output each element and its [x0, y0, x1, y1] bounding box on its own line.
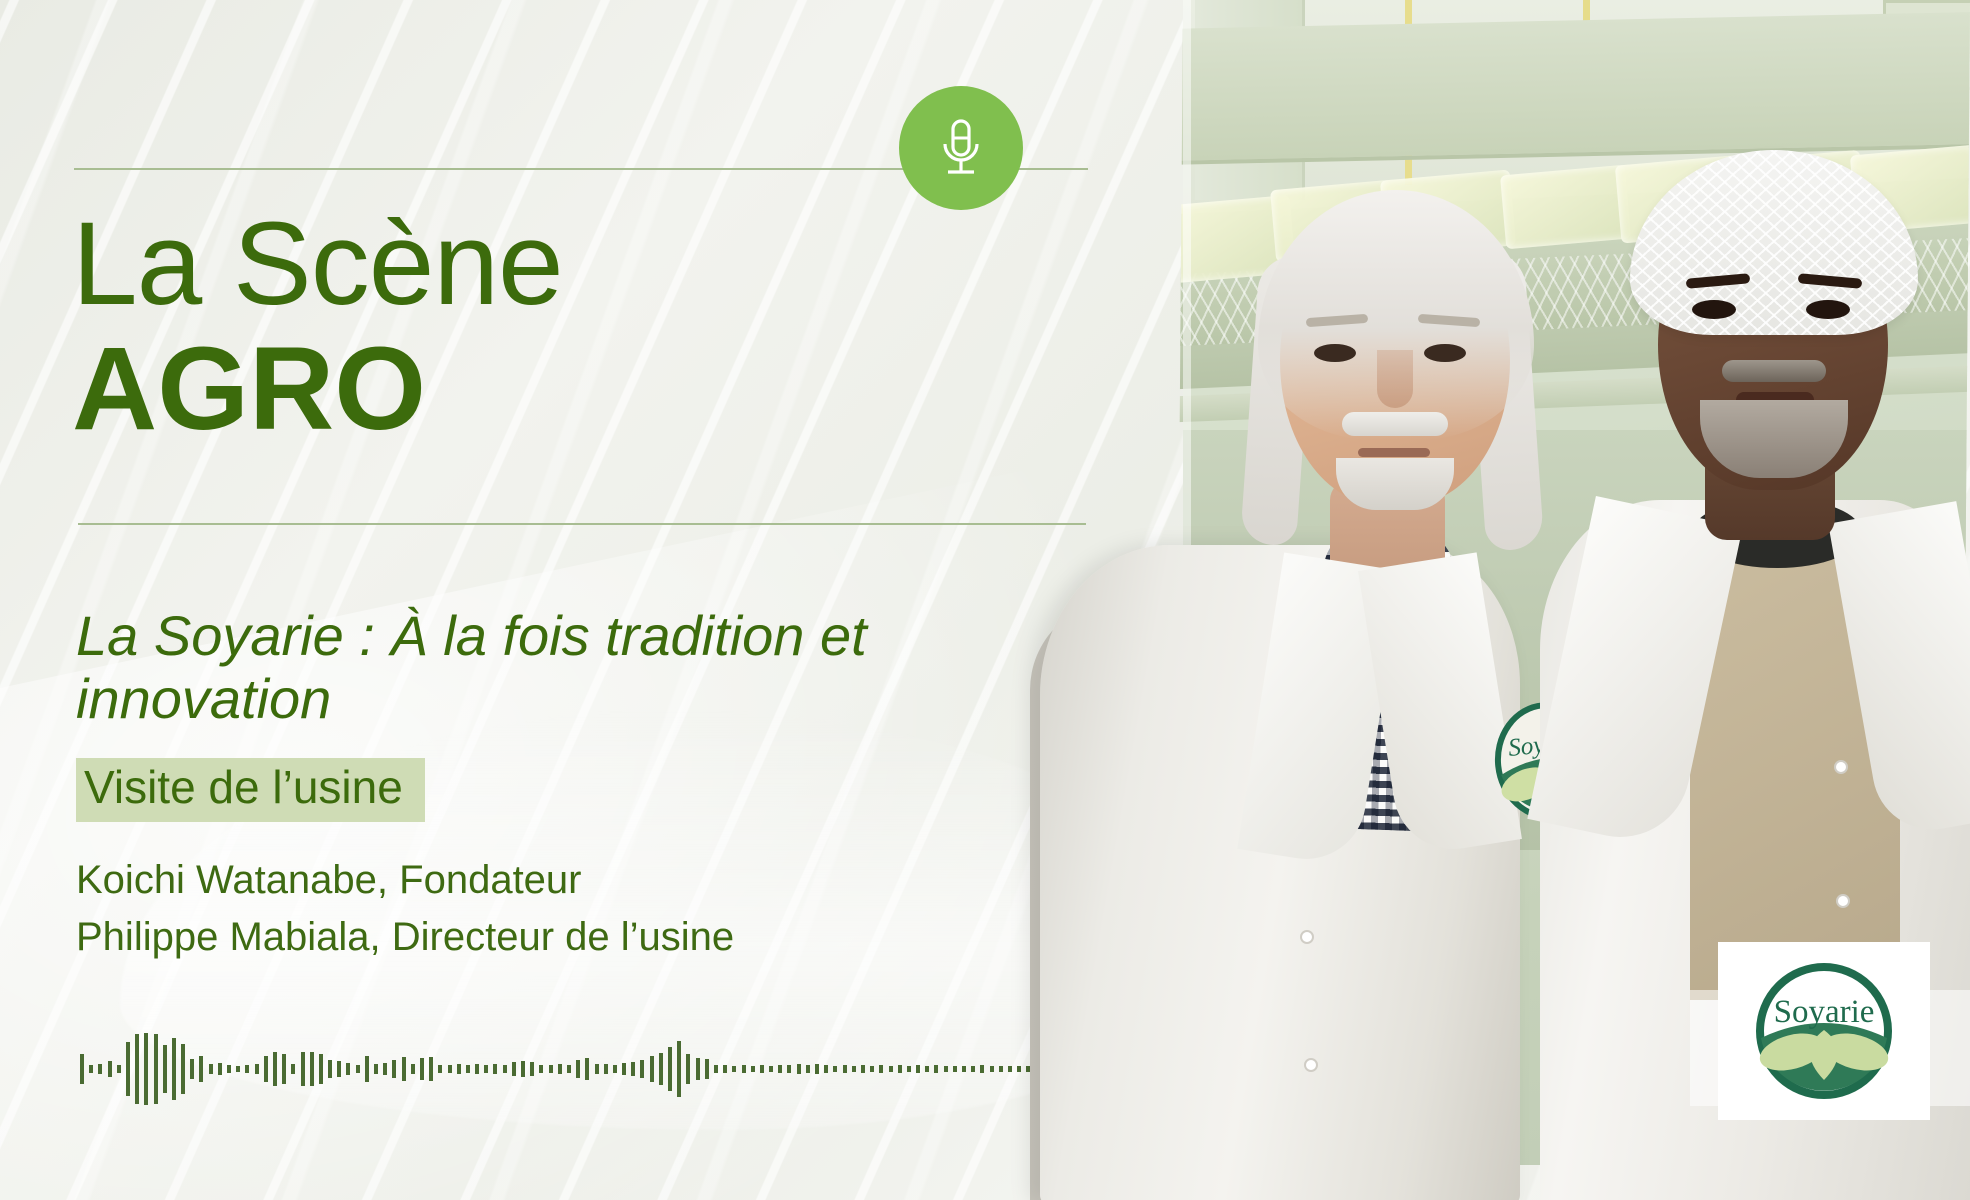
waveform-bar — [264, 1056, 268, 1082]
waveform-bar — [466, 1065, 470, 1073]
waveform-bar — [356, 1065, 360, 1073]
waveform-bar — [319, 1054, 323, 1084]
waveform-bar — [990, 1066, 994, 1072]
waveform-bar — [282, 1054, 286, 1084]
waveform-bar — [971, 1066, 975, 1072]
waveform-bar — [613, 1065, 617, 1073]
microphone-icon — [935, 117, 987, 179]
waveform-bar — [337, 1061, 341, 1077]
waveform-bar — [925, 1066, 929, 1072]
waveform-bar — [438, 1065, 442, 1073]
waveform-bar — [383, 1063, 387, 1075]
waveform-bar — [778, 1065, 782, 1073]
moustache — [1722, 360, 1826, 382]
waveform-bar — [962, 1066, 966, 1072]
waveform-bar — [273, 1052, 277, 1086]
waveform-bar — [769, 1066, 773, 1072]
waveform-bar — [126, 1042, 130, 1096]
waveform-bar — [806, 1065, 810, 1073]
waveform-bar — [328, 1060, 332, 1078]
waveform-bar — [236, 1066, 240, 1072]
waveform-bar — [815, 1064, 819, 1074]
waveform-bar — [980, 1065, 984, 1073]
eye-right — [1806, 300, 1850, 319]
waveform-bar — [953, 1066, 957, 1072]
product-pack — [1500, 165, 1631, 250]
waveform-bar — [650, 1056, 654, 1082]
waveform-bar — [686, 1054, 690, 1084]
soyarie-logo: Soyarie — [1718, 942, 1930, 1120]
waveform-bar — [558, 1064, 562, 1074]
text-column: La Scène AGRO La Soyarie : À la fois tra… — [0, 0, 1200, 1200]
waveform-bar — [503, 1065, 507, 1073]
waveform-bar — [732, 1066, 736, 1072]
coat-button — [1300, 930, 1314, 944]
waveform-bar — [604, 1064, 608, 1074]
waveform-bar — [411, 1064, 415, 1074]
waveform-bar — [852, 1066, 856, 1072]
waveform-bar — [301, 1052, 305, 1086]
coat-button — [1304, 1058, 1318, 1072]
podcast-cover-slide: La Scène AGRO La Soyarie : À la fois tra… — [0, 0, 1970, 1200]
waveform-bar — [108, 1061, 112, 1077]
waveform-bar — [245, 1065, 249, 1073]
waveform-bar — [549, 1065, 553, 1073]
waveform-bar — [723, 1065, 727, 1073]
beard — [1336, 458, 1454, 510]
waveform-bar — [199, 1056, 203, 1082]
microphone-badge — [899, 86, 1023, 210]
eye-right — [1424, 344, 1466, 362]
waveform-bar — [89, 1065, 93, 1073]
waveform-bar — [402, 1057, 406, 1081]
waveform-bar — [457, 1064, 461, 1074]
waveform-bar — [429, 1057, 433, 1081]
waveform-bar — [576, 1060, 580, 1078]
waveform-bar — [889, 1066, 893, 1072]
eye-left — [1692, 300, 1736, 319]
episode-title: La Soyarie : À la fois tradition et inno… — [76, 605, 896, 730]
waveform-bar — [916, 1065, 920, 1073]
waveform-bar — [521, 1061, 525, 1077]
waveform-bar — [934, 1065, 938, 1073]
waveform-bar — [640, 1060, 644, 1078]
waveform-bar — [512, 1062, 516, 1076]
waveform-bar — [631, 1062, 635, 1076]
waveform-bar — [365, 1056, 369, 1082]
mouth — [1358, 448, 1430, 457]
moustache — [1342, 412, 1448, 436]
waveform-bar — [172, 1038, 176, 1100]
waveform-bar — [751, 1066, 755, 1072]
waveform-bar — [374, 1064, 378, 1074]
waveform-bar — [448, 1065, 452, 1073]
waveform-bar — [999, 1066, 1003, 1072]
waveform-bar — [1008, 1066, 1012, 1072]
waveform-bar — [227, 1065, 231, 1073]
overhead-beam — [1174, 11, 1970, 166]
waveform-bar — [392, 1060, 396, 1078]
waveform-bar — [154, 1034, 158, 1104]
audio-waveform[interactable] — [80, 1030, 970, 1108]
waveform-bar — [797, 1064, 801, 1074]
waveform-bar — [310, 1052, 314, 1086]
waveform-bar — [668, 1047, 672, 1091]
waveform-bar — [255, 1064, 259, 1074]
nose — [1377, 350, 1413, 408]
coat-button — [1836, 894, 1850, 908]
waveform-bar — [539, 1065, 543, 1073]
waveform-bar — [907, 1066, 911, 1072]
waveform-bar — [824, 1065, 828, 1073]
waveform-bar — [346, 1063, 350, 1075]
waveform-bar — [833, 1066, 837, 1072]
waveform-bar — [80, 1054, 84, 1084]
waveform-bar — [870, 1066, 874, 1072]
show-title-line-1: La Scène — [72, 205, 563, 323]
coat-button — [1834, 760, 1848, 774]
speaker-list: Koichi Watanabe, Fondateur Philippe Mabi… — [76, 852, 734, 966]
waveform-bar — [530, 1062, 534, 1076]
show-title-line-2: AGRO — [72, 330, 426, 448]
waveform-bar — [144, 1033, 148, 1105]
waveform-bar — [420, 1058, 424, 1080]
waveform-bar — [898, 1065, 902, 1073]
waveform-bar — [677, 1041, 681, 1097]
waveform-bar — [190, 1059, 194, 1079]
waveform-bar — [181, 1044, 185, 1094]
waveform-bar — [659, 1053, 663, 1085]
waveform-bar — [117, 1065, 121, 1073]
waveform-bar — [861, 1065, 865, 1073]
waveform-bar — [787, 1065, 791, 1073]
svg-text:Soyarie: Soyarie — [1774, 994, 1875, 1030]
divider-bottom — [78, 523, 1086, 525]
episode-section-label: Visite de l’usine — [76, 758, 425, 822]
waveform-bar — [98, 1064, 102, 1074]
waveform-bar — [209, 1064, 213, 1074]
waveform-bar — [944, 1066, 948, 1072]
waveform-bar — [742, 1065, 746, 1073]
waveform-bar — [696, 1058, 700, 1080]
waveform-bar — [291, 1064, 295, 1074]
waveform-bar — [493, 1064, 497, 1074]
waveform-bar — [475, 1064, 479, 1074]
waveform-bar — [879, 1065, 883, 1073]
eye-left — [1314, 344, 1356, 362]
waveform-bar — [760, 1065, 764, 1073]
waveform-bar — [218, 1063, 222, 1075]
waveform-bar — [595, 1064, 599, 1074]
waveform-bar — [1017, 1066, 1021, 1072]
waveform-bar — [714, 1065, 718, 1073]
waveform-bar — [163, 1045, 167, 1093]
waveform-bar — [705, 1059, 709, 1079]
waveform-bar — [585, 1058, 589, 1080]
waveform-bar — [622, 1063, 626, 1075]
waveform-bar — [484, 1065, 488, 1073]
waveform-bar — [843, 1065, 847, 1073]
waveform-bar — [135, 1034, 139, 1104]
waveform-bar — [567, 1065, 571, 1073]
